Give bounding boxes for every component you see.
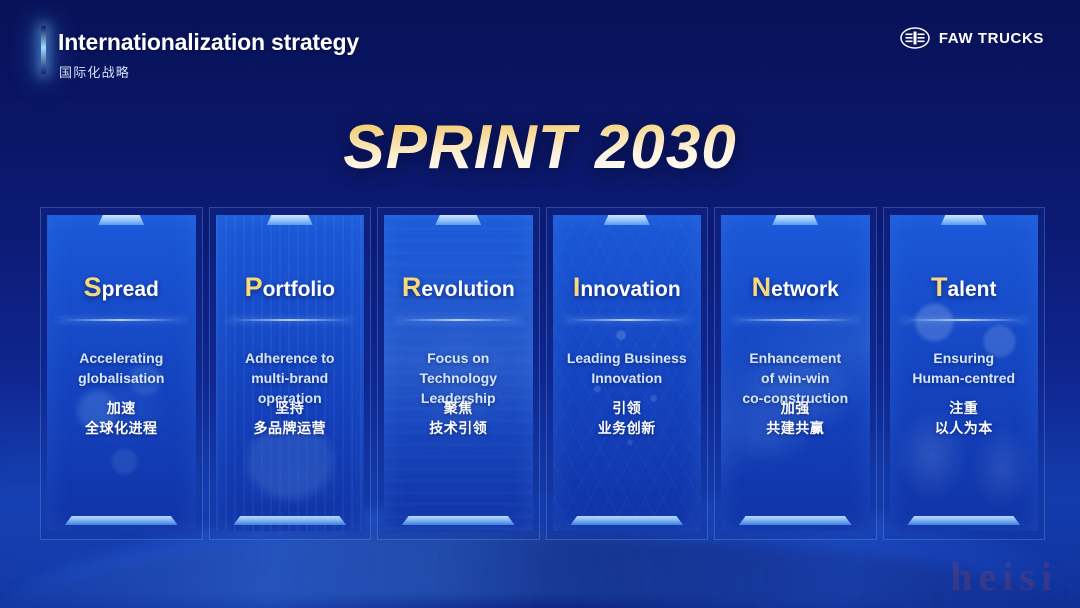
card-divider [563,319,691,321]
card-top-notch [604,215,650,225]
card-inner-panel: Spread Acceleratingglobalisation 加速全球化进程 [47,215,196,531]
card-heading-rest: evolution [421,278,514,301]
card-inner-panel: Portfolio Adherence tomulti-brandoperati… [216,215,365,531]
card-bottom-bar [907,516,1020,525]
card-bottom-bar [65,516,178,525]
main-title: SPRINT 2030 [0,112,1080,183]
watermark: heisi [950,553,1058,600]
card-initial: R [402,272,422,302]
brand-logo: FAW TRUCKS [900,27,1044,49]
card-inner-panel: Revolution Focus onTechnologyLeadership … [384,215,533,531]
card-divider [394,319,522,321]
pillar-card-row: Spread Acceleratingglobalisation 加速全球化进程… [40,207,1045,540]
card-chinese-text: 加强共建共赢 [731,398,859,439]
card-divider [57,319,185,321]
card-bottom-bar [739,516,852,525]
card-heading: Portfolio [216,272,365,303]
card-heading: Spread [47,272,196,303]
card-chinese-text: 聚焦技术引领 [394,398,522,439]
pillar-card-spread[interactable]: Spread Acceleratingglobalisation 加速全球化进程 [40,207,203,540]
page-subtitle-chinese: 国际化战略 [59,62,130,81]
card-bottom-bar [570,516,683,525]
card-top-notch [941,215,987,225]
card-divider [900,319,1028,321]
card-divider [226,319,354,321]
card-heading-rest: alent [947,278,996,301]
faw-emblem-icon [900,27,930,49]
card-initial: N [752,272,772,302]
card-bottom-bar [233,516,346,525]
card-english-text: EnsuringHuman-centred [900,349,1028,389]
pillar-card-revolution[interactable]: Revolution Focus onTechnologyLeadership … [377,207,540,540]
card-inner-panel: Network Enhancementof win-winco-construc… [721,215,870,531]
card-english-text: Acceleratingglobalisation [57,349,185,389]
card-heading: Network [721,272,870,303]
pillar-card-network[interactable]: Network Enhancementof win-winco-construc… [714,207,877,540]
card-top-notch [267,215,313,225]
card-heading: Revolution [384,272,533,303]
card-heading: Talent [890,272,1039,303]
card-top-notch [772,215,818,225]
card-heading-rest: etwork [771,278,839,301]
card-heading-rest: nnovation [580,278,680,301]
card-chinese-text: 注重以人为本 [900,398,1028,439]
card-heading-rest: pread [102,278,159,301]
card-initial: T [931,272,948,302]
background-wave-dark [0,532,1080,608]
card-inner-panel: Innovation Leading BusinessInnovation 引领… [553,215,702,531]
title-accent-bar [41,26,46,74]
card-bottom-bar [402,516,515,525]
card-initial: S [84,272,102,302]
background-wave-highlight [0,530,1080,600]
page-title: Internationalization strategy [58,29,359,56]
pillar-card-portfolio[interactable]: Portfolio Adherence tomulti-brandoperati… [209,207,372,540]
card-top-notch [435,215,481,225]
card-heading-rest: ortfolio [263,278,335,301]
card-inner-panel: Talent EnsuringHuman-centred 注重以人为本 [890,215,1039,531]
pillar-card-innovation[interactable]: Innovation Leading BusinessInnovation 引领… [546,207,709,540]
card-heading: Innovation [553,272,702,303]
brand-logo-text: FAW TRUCKS [939,30,1044,47]
card-chinese-text: 加速全球化进程 [57,398,185,439]
pillar-card-talent[interactable]: Talent EnsuringHuman-centred 注重以人为本 [883,207,1046,540]
card-english-text: Leading BusinessInnovation [563,349,691,389]
slide-header: Internationalization strategy 国际化战略 FAW … [0,0,1080,96]
card-divider [731,319,859,321]
card-initial: P [245,272,263,302]
card-chinese-text: 引领业务创新 [563,398,691,439]
card-top-notch [98,215,144,225]
card-chinese-text: 坚持多品牌运营 [226,398,354,439]
slide-canvas: Internationalization strategy 国际化战略 FAW … [0,0,1080,608]
